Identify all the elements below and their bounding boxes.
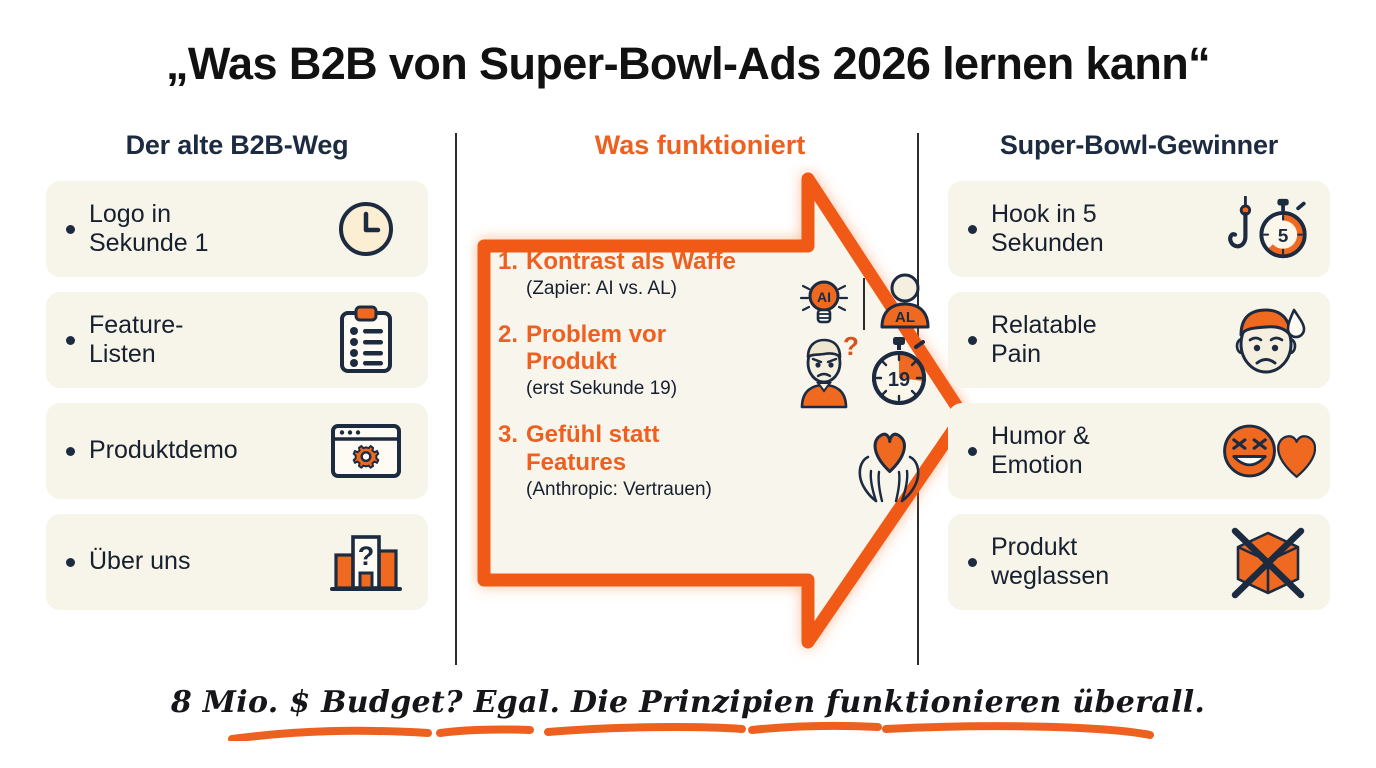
bullet-icon [66, 447, 75, 456]
hands-holding-heart-icon [846, 427, 932, 510]
page-title: „Was B2B von Super-Bowl-Ads 2026 lernen … [0, 38, 1376, 90]
step-item[interactable]: 2. Problem vor Produkt (erst Sekunde 19) [498, 321, 918, 401]
clipboard-list-icon [318, 300, 414, 380]
list-item[interactable]: Logo in Sekunde 1 [46, 181, 428, 277]
footer: 8 Mio. $ Budget? Egal. Die Prinzipien fu… [0, 685, 1376, 720]
footer-tagline: 8 Mio. $ Budget? Egal. Die Prinzipien fu… [0, 685, 1376, 720]
divider-left [455, 133, 457, 665]
list-item-label: Produkt weglassen [991, 533, 1220, 592]
center-column-heading: Was funktioniert [470, 130, 930, 161]
bullet-icon [66, 225, 75, 234]
svg-text:?: ? [843, 333, 859, 361]
laughing-face-heart-icon [1220, 411, 1316, 491]
list-item-label: Hook in 5 Sekunden [991, 200, 1220, 259]
footer-underline-strokes [0, 721, 1376, 741]
crossed-out-box-icon [1220, 522, 1316, 602]
step-number: 2. [498, 321, 526, 349]
center-steps-list: 1. Kontrast als Waffe (Zapier: AI vs. AL… [498, 248, 918, 522]
list-item-label: Humor & Emotion [991, 422, 1220, 481]
step-title: Kontrast als Waffe [526, 248, 776, 276]
center-column: Was funktioniert 1. Kontra [470, 130, 970, 670]
bullet-icon [66, 336, 75, 345]
sad-sweating-face-icon [1220, 300, 1316, 380]
list-item-label: Logo in Sekunde 1 [89, 200, 318, 259]
clock-icon [318, 189, 414, 269]
step-number: 3. [498, 421, 526, 449]
list-item[interactable]: Relatable Pain [948, 292, 1330, 388]
bullet-icon [66, 558, 75, 567]
list-item[interactable]: Hook in 5 Sekunden [948, 181, 1330, 277]
list-item-label: Produktdemo [89, 436, 318, 466]
svg-text:?: ? [358, 541, 375, 571]
bullet-icon [968, 225, 977, 234]
svg-text:AI: AI [817, 289, 831, 305]
svg-text:5: 5 [1278, 225, 1288, 246]
step-title: Problem vor Produkt [526, 321, 776, 377]
step-icon-group: ? [796, 333, 932, 414]
office-building-question-icon: ? [318, 522, 414, 602]
step-number: 1. [498, 248, 526, 276]
step-title: Gefühl statt Features [526, 421, 776, 477]
step-item[interactable]: 3. Gefühl statt Features (Anthropic: Ver… [498, 421, 918, 501]
svg-text:19: 19 [888, 369, 910, 391]
left-column-heading: Der alte B2B-Weg [46, 130, 428, 161]
bullet-icon [968, 336, 977, 345]
list-item[interactable]: Produktdemo [46, 403, 428, 499]
right-column-heading: Super-Bowl-Gewinner [948, 130, 1330, 161]
bullet-icon [968, 447, 977, 456]
infographic-canvas: „Was B2B von Super-Bowl-Ads 2026 lernen … [0, 0, 1376, 768]
list-item[interactable]: Produkt weglassen [948, 514, 1330, 610]
step-icon-group [846, 427, 932, 510]
list-item[interactable]: Feature- Listen [46, 292, 428, 388]
list-item-label: Relatable Pain [991, 311, 1220, 370]
fish-hook-stopwatch-icon: 5 [1220, 189, 1316, 269]
browser-gear-icon [318, 411, 414, 491]
step-item[interactable]: 1. Kontrast als Waffe (Zapier: AI vs. AL… [498, 248, 918, 301]
list-item-label: Über uns [89, 547, 318, 577]
list-item[interactable]: Über uns ? [46, 514, 428, 610]
list-item-label: Feature- Listen [89, 311, 318, 370]
bullet-icon [968, 558, 977, 567]
confused-person-icon: ? [796, 333, 862, 414]
left-column: Der alte B2B-Weg Logo in Sekunde 1 Featu… [46, 130, 428, 625]
list-item[interactable]: Humor & Emotion [948, 403, 1330, 499]
stopwatch-19-icon: 19 [866, 335, 932, 412]
right-column: Super-Bowl-Gewinner Hook in 5 Sekunden [948, 130, 1330, 625]
